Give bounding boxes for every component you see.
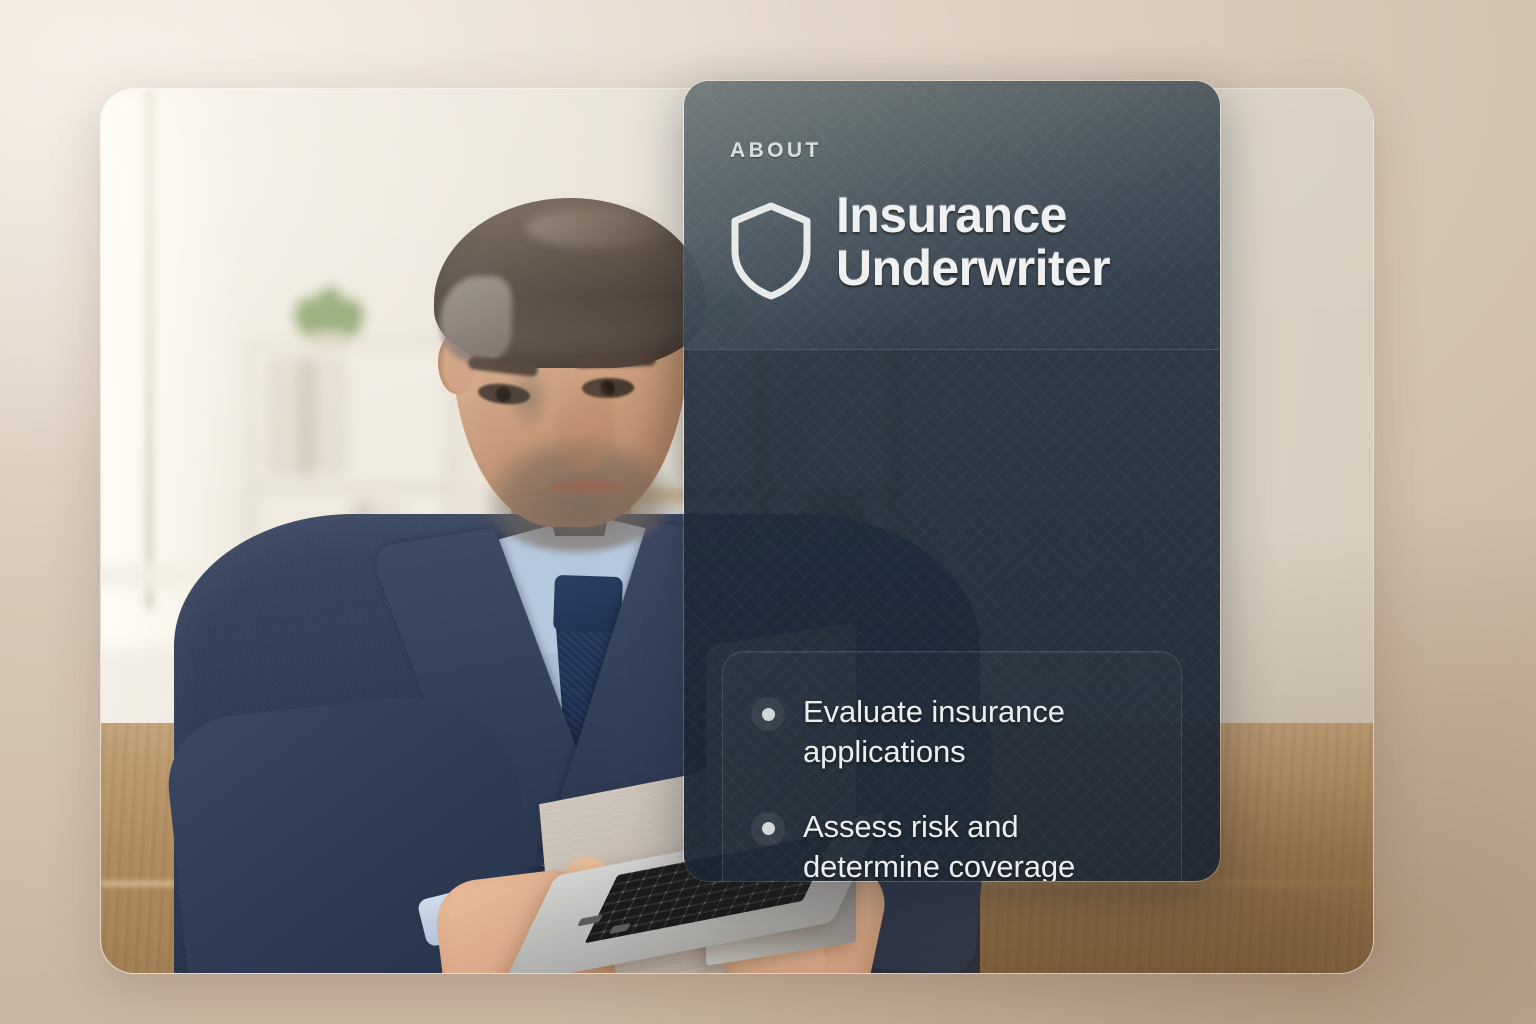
- responsibilities-card: Evaluate insurance applications Assess r…: [722, 651, 1182, 882]
- list-item-label: Assess risk and determine coverage: [803, 807, 1147, 882]
- panel-title-line-1: Insurance: [836, 187, 1067, 243]
- list-item: Evaluate insurance applications: [751, 692, 1147, 773]
- panel-body: Evaluate insurance applications Assess r…: [684, 349, 1220, 881]
- panel-title-row: Insurance Underwriter: [728, 189, 1188, 306]
- hair: [434, 198, 706, 368]
- eyebrow-label: ABOUT: [730, 139, 822, 163]
- list-item: Assess risk and determine coverage: [751, 807, 1147, 882]
- panel-title: Insurance Underwriter: [836, 189, 1110, 295]
- panel-header: ABOUT Insurance Underwriter: [684, 81, 1220, 349]
- about-info-panel: ABOUT Insurance Underwriter Eval: [683, 80, 1221, 882]
- bullet-dot-icon: [751, 812, 785, 846]
- page-canvas: ABOUT Insurance Underwriter Eval: [0, 0, 1536, 1024]
- panel-title-line-2: Underwriter: [836, 240, 1110, 296]
- bullet-dot-icon: [751, 697, 785, 731]
- nose: [556, 380, 614, 472]
- list-item-label: Evaluate insurance applications: [803, 692, 1147, 773]
- window-mullion: [145, 89, 154, 609]
- mouth: [548, 480, 626, 494]
- panel-divider: [684, 349, 1220, 350]
- necktie-knot: [553, 575, 623, 633]
- shield-icon: [728, 201, 814, 306]
